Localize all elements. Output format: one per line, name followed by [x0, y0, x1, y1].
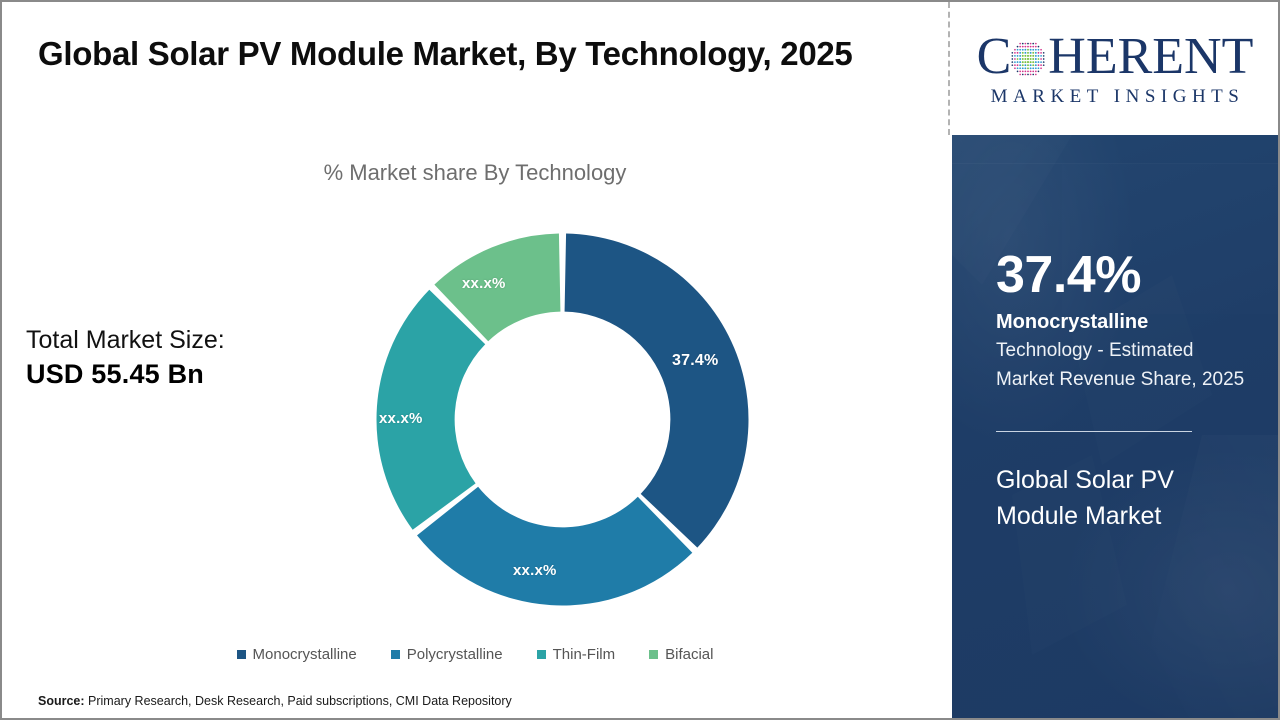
source-label: Source:: [38, 694, 85, 708]
globe-icon: [1009, 40, 1047, 78]
panel-divider-rule: [996, 431, 1192, 432]
legend-swatch-icon: [237, 650, 246, 659]
info-panel-content: 37.4% Monocrystalline Technology - Estim…: [996, 248, 1246, 534]
panel-divider: [948, 2, 950, 135]
legend-swatch-icon: [649, 650, 658, 659]
brand-logo[interactable]: C HERENT MARKET INSIGHTS: [952, 2, 1278, 135]
legend-label: Bifacial: [665, 646, 713, 663]
legend-label: Polycrystalline: [407, 646, 503, 663]
chart-legend: Monocrystalline Polycrystalline Thin-Fil…: [2, 646, 948, 663]
page-title: Global Solar PV Module Market, By Techno…: [38, 30, 918, 79]
donut-slice-group: [377, 234, 749, 606]
slice-label-monocrystalline: 37.4%: [672, 352, 718, 370]
donut-slice-monocrystalline[interactable]: [565, 234, 749, 548]
donut-chart: 37.4% xx.x% xx.x% xx.x%: [375, 232, 750, 607]
right-brand-panel: C HERENT MARKET INSIGHTS: [952, 2, 1278, 718]
panel-market-name: Global Solar PV Module Market: [996, 462, 1246, 535]
legend-swatch-icon: [537, 650, 546, 659]
legend-swatch-icon: [391, 650, 400, 659]
legend-item-thin-film[interactable]: Thin-Film: [537, 646, 616, 663]
info-panel: 37.4% Monocrystalline Technology - Estim…: [952, 135, 1278, 718]
logo-tagline: MARKET INSIGHTS: [986, 86, 1245, 108]
legend-label: Thin-Film: [553, 646, 616, 663]
logo-letter-c: C: [977, 31, 1012, 83]
logo-word-rest: HERENT: [1048, 31, 1253, 83]
total-market-size-value: USD 55.45 Bn: [26, 357, 326, 393]
infographic-page: Global Solar PV Module Market, By Techno…: [0, 0, 1280, 720]
slice-label-bifacial: xx.x%: [462, 275, 506, 292]
donut-slice-polycrystalline[interactable]: [417, 487, 692, 606]
logo-wordmark-row: C HERENT: [977, 30, 1254, 84]
left-chart-panel: Global Solar PV Module Market, By Techno…: [2, 2, 948, 718]
stat-description: Technology - Estimated Market Revenue Sh…: [996, 337, 1246, 395]
total-market-size-label: Total Market Size:: [26, 324, 326, 357]
chart-subtitle: % Market share By Technology: [2, 160, 948, 186]
slice-label-thin-film: xx.x%: [379, 410, 423, 427]
legend-label: Monocrystalline: [253, 646, 357, 663]
stat-value: 37.4%: [996, 248, 1246, 303]
legend-item-bifacial[interactable]: Bifacial: [649, 646, 713, 663]
donut-chart-svg: [375, 232, 750, 607]
stat-headline: Monocrystalline: [996, 309, 1246, 335]
slice-label-polycrystalline: xx.x%: [513, 562, 557, 579]
legend-item-polycrystalline[interactable]: Polycrystalline: [391, 646, 503, 663]
total-market-size-block: Total Market Size: USD 55.45 Bn: [26, 324, 326, 393]
legend-item-monocrystalline[interactable]: Monocrystalline: [237, 646, 357, 663]
source-value: Primary Research, Desk Research, Paid su…: [88, 694, 512, 708]
source-line: Source: Primary Research, Desk Research,…: [38, 694, 512, 708]
